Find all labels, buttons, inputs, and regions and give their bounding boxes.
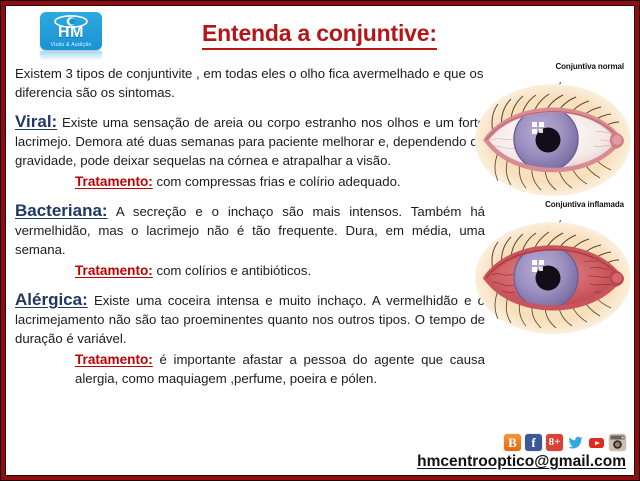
treatment-lead: Tratamento: (75, 352, 153, 367)
section-bacteriana-lead: Bacteriana: (15, 201, 108, 220)
treatment-lead: Tratamento: (75, 263, 153, 278)
blogger-glyph: B (504, 434, 521, 451)
illustration-inflamed-caption: Conjuntiva inflamada (545, 200, 624, 209)
social-links: B f 8+ (417, 434, 626, 451)
illustration-normal-eye: Conjuntiva normal (474, 60, 632, 200)
youtube-play-icon (588, 434, 605, 451)
section-viral-body: Existe uma sensação de areia ou corpo es… (15, 115, 485, 168)
instagram-icon[interactable] (609, 434, 626, 451)
footer: B f 8+ (417, 434, 626, 471)
treatment-lead: Tratamento: (75, 174, 153, 189)
brand-logo: HM Visão & Audição (34, 12, 108, 56)
twitter-bird-icon (567, 434, 584, 451)
intro-paragraph: Existem 3 tipos de conjuntivite , em tod… (15, 64, 485, 102)
youtube-icon[interactable] (588, 434, 605, 451)
section-viral-treatment: Tratamento: com compressas frias e colír… (15, 172, 485, 191)
treatment-body: com compressas frias e colírio adequado. (153, 174, 401, 189)
facebook-icon[interactable]: f (525, 434, 542, 451)
contact-email[interactable]: hmcentrooptico@gmail.com (417, 453, 626, 471)
section-bacteriana-treatment: Tratamento: com colírios e antibióticos. (15, 261, 485, 280)
logo-reflection (40, 51, 102, 61)
facebook-glyph: f (525, 434, 542, 451)
section-alergica: Alérgica: Existe uma coceira intensa e m… (15, 290, 485, 348)
illustration-inflamed-eye: Conjuntiva inflamada (474, 198, 632, 338)
poster-canvas: HM Visão & Audição Entenda a conjuntive:… (5, 5, 635, 476)
section-bacteriana: Bacteriana: A secreção e o inchaço são m… (15, 201, 485, 259)
page-title: Entenda a conjuntive: (202, 20, 437, 50)
logo-mark: HM (40, 25, 102, 41)
section-viral-lead: Viral: (15, 112, 57, 131)
inflamed-eye-graphic (474, 220, 632, 336)
normal-eye-graphic (474, 82, 632, 198)
poster-header: HM Visão & Audição Entenda a conjuntive: (6, 6, 634, 62)
logo-tagline: Visão & Audição (40, 42, 102, 48)
section-viral: Viral: Existe uma sensação de areia ou c… (15, 112, 485, 170)
google-plus-icon[interactable]: 8+ (546, 434, 563, 451)
blogger-icon[interactable]: B (504, 434, 521, 451)
illustration-normal-caption: Conjuntiva normal (555, 62, 624, 71)
section-alergica-lead: Alérgica: (15, 290, 88, 309)
instagram-camera-icon (609, 434, 626, 451)
article-body: Existem 3 tipos de conjuntivite , em tod… (15, 64, 485, 398)
google-plus-glyph: 8+ (546, 434, 563, 451)
treatment-body: com colírios e antibióticos. (153, 263, 311, 278)
section-alergica-treatment: Tratamento: é importante afastar a pesso… (15, 350, 485, 388)
logo-badge: HM Visão & Audição (40, 12, 102, 50)
twitter-icon[interactable] (567, 434, 584, 451)
poster-frame: HM Visão & Audição Entenda a conjuntive:… (0, 0, 640, 481)
